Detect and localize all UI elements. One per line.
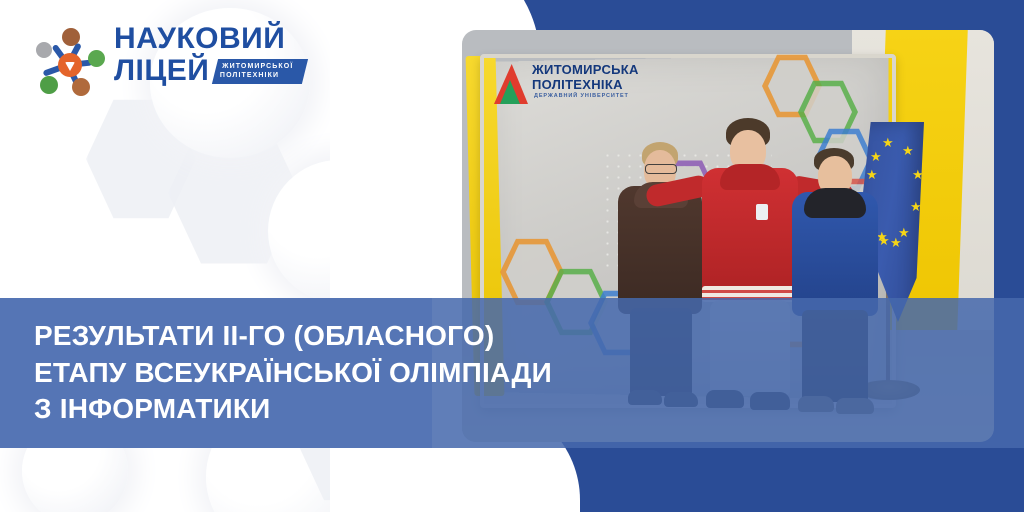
school-logo-tagline-2: ПОЛІТЕХНІКИ [220,72,291,81]
student-center-hood [720,164,780,190]
press-wall-logo-line1: ЖИТОМИРСЬКА [532,62,639,77]
promo-banner: ЖИТОМИРСЬКА ПОЛІТЕХНІКА ДЕРЖАВНИЙ УНІВЕР… [0,0,1024,512]
school-logo-line1: НАУКОВИЙ [114,24,306,54]
page-title-line3: З ІНФОРМАТИКИ [34,391,700,427]
molecule-node-green-left [40,76,58,94]
student-center-logo-patch [756,204,768,220]
page-title-line1: РЕЗУЛЬТАТИ ІІ-ГО (ОБЛАСНОГО) [34,318,700,354]
watermark-hexagon-2 [168,118,300,268]
molecule-node-gray [36,42,52,58]
school-logo-tagline: ЖИТОМИРСЬКОЇ ПОЛІТЕХНІКИ [212,59,308,84]
press-wall-logo: ЖИТОМИРСЬКА ПОЛІТЕХНІКА ДЕРЖАВНИЙ УНІВЕР… [494,60,664,110]
school-logo-line2: ЛІЦЕЙ [114,56,209,86]
school-logo[interactable]: НАУКОВИЙ ЛІЦЕЙ ЖИТОМИРСЬКОЇ ПОЛІТЕХНІКИ [34,24,294,102]
molecule-node-brown-bottom [72,78,90,96]
molecule-atom-icon [34,28,106,98]
school-logo-text: НАУКОВИЙ ЛІЦЕЙ ЖИТОМИРСЬКОЇ ПОЛІТЕХНІКИ [114,24,306,86]
press-wall-logo-line2: ПОЛІТЕХНІКА [532,77,623,92]
student-right-hood [804,188,866,218]
watermark-hexagon-1 [86,96,196,222]
page-title-line2: ЕТАПУ ВСЕУКРАЇНСЬКОЇ ОЛІМПІАДИ [34,355,700,391]
page-title: РЕЗУЛЬТАТИ ІІ-ГО (ОБЛАСНОГО) ЕТАПУ ВСЕУК… [0,298,700,448]
molecule-core [58,53,82,77]
press-wall-logo-line3: ДЕРЖАВНИЙ УНІВЕРСИТЕТ [534,93,629,99]
molecule-node-brown-top [62,28,80,46]
student-left-glasses [645,164,677,174]
molecule-node-green-right [88,50,105,67]
